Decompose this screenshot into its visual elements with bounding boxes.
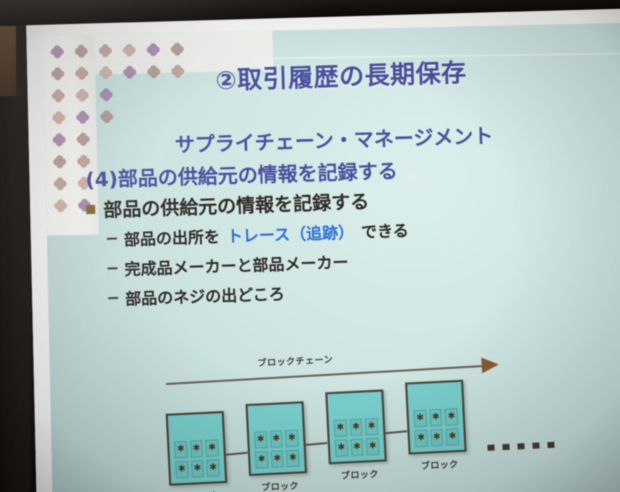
block-transaction-cell [413,410,426,428]
block-transaction-grid [174,439,220,478]
blockchain-block [325,390,387,465]
chain-arrow-head-icon [481,356,499,373]
block-transaction-cell [205,439,219,457]
block-label: ブロック [341,467,379,482]
ellipsis-dot [487,445,494,451]
block-transaction-cell [414,430,427,448]
block-transaction-grid [334,418,380,457]
ellipsis-dot [502,444,509,450]
block-label: ブロック [261,479,299,492]
projected-slide-photo: ②取引履歴の長期保存 サプライチェーン・マネージメント (4)部品の供給元の情報… [0,0,620,492]
block-transaction-cell [191,460,205,478]
block-transaction-cell [190,440,204,458]
block-transaction-cell [445,408,459,426]
block-transaction-cell [365,418,379,436]
slide-canvas: ②取引履歴の長期保存 サプライチェーン・マネージメント (4)部品の供給元の情報… [42,23,620,492]
room-warm-light [0,26,16,96]
block-label: ブロック [181,488,219,492]
ellipsis-dot [532,442,539,448]
blockchain-block [166,411,228,486]
block-transaction-grid [413,408,459,447]
block-transaction-cell [334,419,347,437]
block-transaction-cell [175,461,188,479]
block-transaction-cell [350,439,364,457]
block-transaction-cell [255,451,268,469]
projection-screen: ②取引履歴の長期保存 サプライチェーン・マネージメント (4)部品の供給元の情報… [26,3,620,492]
block-transaction-cell [446,428,460,446]
block-transaction-cell [285,430,299,448]
block-connector [385,430,407,434]
block-transaction-cell [349,419,363,437]
block-transaction-cell [430,429,444,447]
room-dark-corner [0,96,30,492]
blockchain-block [246,401,308,476]
block-transaction-grid [254,430,300,469]
block-connector [305,442,327,446]
ellipsis-dots [487,442,554,451]
block-transaction-cell [366,438,380,456]
block-transaction-cell [174,441,187,459]
block-transaction-cell [254,431,267,449]
blockchain-block [405,380,467,455]
chain-arrow-label: ブロックチェーン [257,352,333,369]
block-transaction-cell [270,430,284,448]
blockchain-diagram: ブロックチェーン ブロックブロックブロックブロック [42,23,620,492]
block-connector [226,451,248,455]
block-transaction-cell [429,409,443,427]
block-transaction-cell [271,450,285,468]
ellipsis-dot [517,443,524,449]
block-transaction-cell [335,439,348,457]
block-label: ブロック [421,457,459,472]
block-transaction-cell [286,450,300,468]
ellipsis-dot [547,442,554,448]
block-transaction-cell [206,459,220,477]
